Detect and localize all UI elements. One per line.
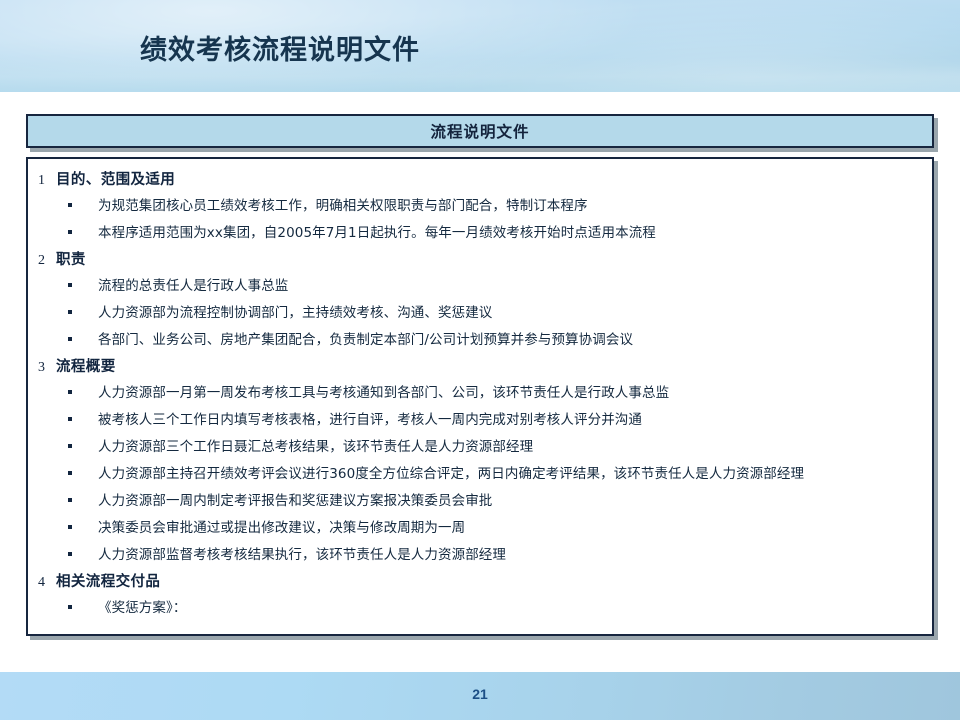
list-item-text: 人力资源部监督考核考核结果执行，该环节责任人是人力资源部经理: [98, 542, 506, 568]
list-item: 人力资源部为流程控制协调部门，主持绩效考核、沟通、奖惩建议: [38, 300, 922, 327]
square-bullet-icon: [68, 596, 98, 622]
square-bullet-icon: [68, 408, 98, 434]
list-item: 被考核人三个工作日内填写考核表格，进行自评，考核人一周内完成对别考核人评分并沟通: [38, 407, 922, 434]
section-4-number: 4: [38, 570, 56, 595]
list-item-text: 为规范集团核心员工绩效考核工作，明确相关权限职责与部门配合，特制订本程序: [98, 193, 588, 219]
list-item-text: 流程的总责任人是行政人事总监: [98, 273, 288, 299]
list-item-text: 各部门、业务公司、房地产集团配合，负责制定本部门/公司计划预算并参与预算协调会议: [98, 327, 633, 353]
slide-header-band: 绩效考核流程说明文件: [0, 0, 960, 92]
list-item: 人力资源部主持召开绩效考评会议进行360度全方位综合评定，两日内确定考评结果，该…: [38, 461, 922, 488]
list-item-text: 《奖惩方案》：: [98, 595, 186, 621]
section-1-heading: 1 目的、范围及适用: [38, 167, 922, 193]
section-2: 2 职责 流程的总责任人是行政人事总监 人力资源部为流程控制协调部门，主持绩效考…: [38, 247, 922, 354]
square-bullet-icon: [68, 381, 98, 407]
list-item: 人力资源部三个工作日聂汇总考核结果，该环节责任人是人力资源部经理: [38, 434, 922, 461]
section-3-heading: 3 流程概要: [38, 354, 922, 380]
list-item-text: 被考核人三个工作日内填写考核表格，进行自评，考核人一周内完成对别考核人评分并沟通: [98, 407, 642, 433]
slide: 绩效考核流程说明文件 流程说明文件 1 目的、范围及适用 为规范集团核心员工绩效…: [0, 0, 960, 720]
list-item-text: 决策委员会审批通过或提出修改建议，决策与修改周期为一周: [98, 515, 465, 541]
list-item: 人力资源部一月第一周发布考核工具与考核通知到各部门、公司，该环节责任人是行政人事…: [38, 380, 922, 407]
list-item-text: 人力资源部一月第一周发布考核工具与考核通知到各部门、公司，该环节责任人是行政人事…: [98, 380, 669, 406]
section-1-label: 目的、范围及适用: [56, 167, 175, 192]
square-bullet-icon: [68, 435, 98, 461]
list-item: 人力资源部监督考核考核结果执行，该环节责任人是人力资源部经理: [38, 542, 922, 569]
section-4-label: 相关流程交付品: [56, 569, 160, 594]
process-document-table: 流程说明文件 1 目的、范围及适用 为规范集团核心员工绩效考核工作，明确相关权限…: [26, 114, 934, 636]
section-4: 4 相关流程交付品 《奖惩方案》：: [38, 569, 922, 622]
table-header-row: 流程说明文件: [26, 114, 934, 148]
square-bullet-icon: [68, 221, 98, 247]
list-item-text: 人力资源部为流程控制协调部门，主持绩效考核、沟通、奖惩建议: [98, 300, 492, 326]
section-2-label: 职责: [56, 247, 86, 272]
list-item: 各部门、业务公司、房地产集团配合，负责制定本部门/公司计划预算并参与预算协调会议: [38, 327, 922, 354]
square-bullet-icon: [68, 462, 98, 488]
list-item: 《奖惩方案》：: [38, 595, 922, 622]
list-item-text: 人力资源部三个工作日聂汇总考核结果，该环节责任人是人力资源部经理: [98, 434, 533, 460]
list-item-text: 本程序适用范围为xx集团，自2005年7月1日起执行。每年一月绩效考核开始时点适…: [98, 220, 656, 246]
list-item-text: 人力资源部主持召开绩效考评会议进行360度全方位综合评定，两日内确定考评结果，该…: [98, 461, 804, 487]
list-item-text: 人力资源部一周内制定考评报告和奖惩建议方案报决策委员会审批: [98, 488, 492, 514]
slide-body: 流程说明文件 1 目的、范围及适用 为规范集团核心员工绩效考核工作，明确相关权限…: [0, 92, 960, 672]
square-bullet-icon: [68, 274, 98, 300]
list-item: 人力资源部一周内制定考评报告和奖惩建议方案报决策委员会审批: [38, 488, 922, 515]
page-title: 绩效考核流程说明文件: [140, 28, 420, 67]
section-2-heading: 2 职责: [38, 247, 922, 273]
square-bullet-icon: [68, 301, 98, 327]
section-3: 3 流程概要 人力资源部一月第一周发布考核工具与考核通知到各部门、公司，该环节责…: [38, 354, 922, 569]
section-3-number: 3: [38, 355, 56, 380]
list-item: 流程的总责任人是行政人事总监: [38, 273, 922, 300]
list-item: 决策委员会审批通过或提出修改建议，决策与修改周期为一周: [38, 515, 922, 542]
square-bullet-icon: [68, 328, 98, 354]
square-bullet-icon: [68, 516, 98, 542]
square-bullet-icon: [68, 543, 98, 569]
table-header-label: 流程说明文件: [430, 120, 529, 142]
list-item: 为规范集团核心员工绩效考核工作，明确相关权限职责与部门配合，特制订本程序: [38, 193, 922, 220]
section-3-label: 流程概要: [56, 354, 116, 379]
section-1: 1 目的、范围及适用 为规范集团核心员工绩效考核工作，明确相关权限职责与部门配合…: [38, 167, 922, 247]
square-bullet-icon: [68, 194, 98, 220]
list-item: 本程序适用范围为xx集团，自2005年7月1日起执行。每年一月绩效考核开始时点适…: [38, 220, 922, 247]
table-body-cell: 1 目的、范围及适用 为规范集团核心员工绩效考核工作，明确相关权限职责与部门配合…: [26, 157, 934, 636]
section-4-heading: 4 相关流程交付品: [38, 569, 922, 595]
section-1-number: 1: [38, 168, 56, 193]
section-2-number: 2: [38, 248, 56, 273]
square-bullet-icon: [68, 489, 98, 515]
page-number: 21: [0, 686, 960, 702]
